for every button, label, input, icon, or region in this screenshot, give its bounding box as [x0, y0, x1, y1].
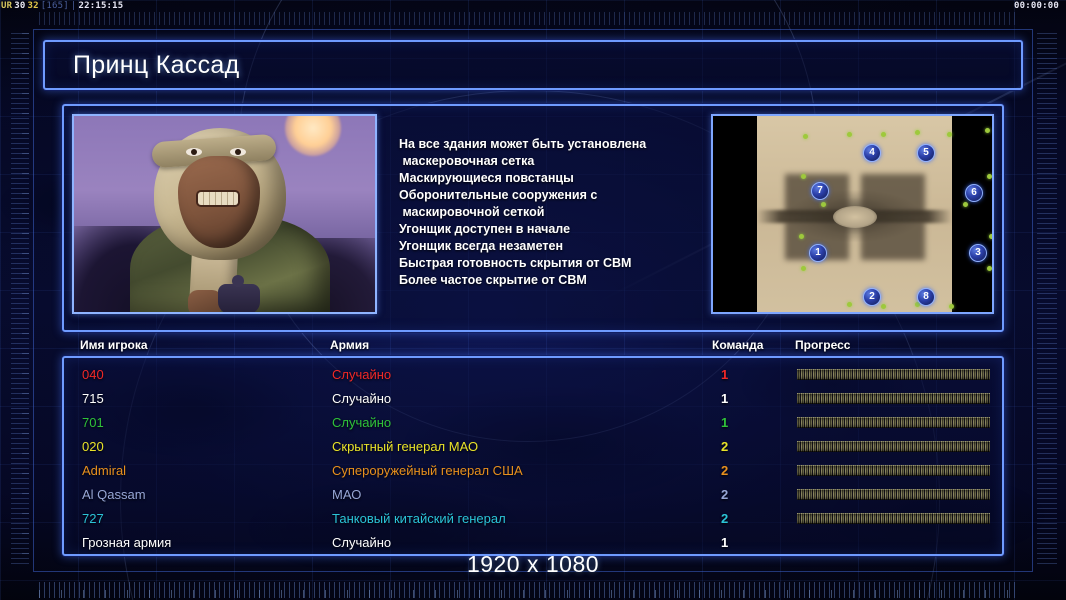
ruler-ticks-left: [11, 33, 29, 568]
table-row[interactable]: Al QassamМАО2: [64, 482, 1002, 506]
map-center-clearing: [833, 206, 877, 228]
map-preview[interactable]: 45761328: [711, 114, 994, 314]
map-structure: [861, 220, 925, 260]
column-header-army: Армия: [330, 338, 369, 352]
ability-line: Угонщик всегда незаметен: [399, 238, 711, 255]
supply-dot: [881, 304, 886, 309]
supply-dot: [801, 266, 806, 271]
progress-bar: [797, 513, 990, 524]
ability-line: Более частое скрытие от СВМ: [399, 272, 711, 289]
general-portrait: [72, 114, 377, 314]
top-status-bar: UR3032[165]|22:15:15 00:00:00: [0, 0, 1066, 13]
supply-dot: [987, 266, 992, 271]
supply-dot: [963, 202, 968, 207]
progress-bar: [797, 369, 990, 380]
supply-dot: [801, 174, 806, 179]
start-position-marker[interactable]: 6: [965, 184, 983, 202]
cell-player-name: 040: [82, 367, 104, 382]
status-time: 22:15:15: [77, 1, 124, 11]
ability-line: Угонщик доступен в начале: [399, 221, 711, 238]
eye-right: [230, 148, 246, 156]
table-row[interactable]: 727Танковый китайский генерал2: [64, 506, 1002, 530]
cell-team[interactable]: 1: [721, 367, 728, 382]
cell-team[interactable]: 1: [721, 391, 728, 406]
ruler-ticks-top: [39, 12, 1019, 25]
table-row[interactable]: 020Скрытный генерал МАО2: [64, 434, 1002, 458]
game-lobby-screen: UR3032[165]|22:15:15 00:00:00 Принц Касс…: [0, 0, 1066, 600]
cell-player-name: Admiral: [82, 463, 126, 478]
general-info-panel: На все здания может быть установлена мас…: [62, 104, 1004, 332]
cell-team[interactable]: 2: [721, 463, 728, 478]
eye-left: [186, 148, 202, 156]
cell-army[interactable]: Случайно: [332, 367, 391, 382]
cell-progress: [797, 513, 990, 524]
table-row[interactable]: 040Случайно1: [64, 362, 1002, 386]
map-terrain: 45761328: [757, 116, 952, 314]
supply-dot: [947, 132, 952, 137]
cell-player-name: 701: [82, 415, 104, 430]
resolution-label: 1920 x 1080: [0, 551, 1066, 578]
supply-dot: [799, 234, 804, 239]
general-ability-list: На все здания может быть установлена мас…: [377, 114, 711, 289]
column-header-player-name: Имя игрока: [80, 338, 148, 352]
page-title: Принц Кассад: [73, 51, 239, 80]
ruler-ticks-right: [1037, 33, 1057, 568]
cell-team[interactable]: 1: [721, 415, 728, 430]
progress-bar: [797, 489, 990, 500]
cell-progress: [797, 465, 990, 476]
table-row[interactable]: 715Случайно1: [64, 386, 1002, 410]
cell-team[interactable]: 2: [721, 439, 728, 454]
cell-progress: [797, 369, 990, 380]
status-label: UR: [0, 1, 13, 11]
portrait-figure: [126, 122, 336, 312]
column-header-progress: Прогресс: [795, 338, 850, 352]
supply-dot: [803, 134, 808, 139]
hand: [188, 290, 222, 314]
cell-player-name: Al Qassam: [82, 487, 146, 502]
cell-army[interactable]: Супероружейный генерал США: [332, 463, 523, 478]
start-position-marker[interactable]: 2: [863, 288, 881, 306]
cell-progress: [797, 417, 990, 428]
cell-player-name: Грозная армия: [82, 535, 171, 550]
cell-army[interactable]: Случайно: [332, 535, 391, 550]
cell-army[interactable]: Случайно: [332, 415, 391, 430]
player-table-header: Имя игрока Армия Команда Прогресс: [62, 338, 1004, 356]
start-position-marker[interactable]: 5: [917, 144, 935, 162]
start-position-marker[interactable]: 8: [917, 288, 935, 306]
cell-army[interactable]: Танковый китайский генерал: [332, 511, 506, 526]
cell-progress: [797, 393, 990, 404]
supply-dot: [881, 132, 886, 137]
supply-dot: [989, 234, 994, 239]
cell-team[interactable]: 2: [721, 487, 728, 502]
ability-line: Маскирующиеся повстанцы: [399, 170, 711, 187]
start-position-marker[interactable]: 7: [811, 182, 829, 200]
supply-dot: [987, 174, 992, 179]
title-panel: Принц Кассад: [43, 40, 1023, 90]
supply-dot: [985, 128, 990, 133]
supply-dot: [821, 202, 826, 207]
cell-progress: [797, 441, 990, 452]
cell-army[interactable]: МАО: [332, 487, 361, 502]
mouth: [198, 192, 238, 205]
cell-player-name: 715: [82, 391, 104, 406]
progress-bar: [797, 465, 990, 476]
ability-line: На все здания может быть установлена: [399, 136, 711, 153]
progress-bar: [797, 417, 990, 428]
ability-line: маскировочной сеткой: [399, 204, 711, 221]
clock-readout: 00:00:00: [1014, 0, 1059, 13]
teapot: [218, 284, 260, 314]
ruler-ticks-bottom: [39, 582, 1019, 598]
progress-bar: [797, 441, 990, 452]
start-position-marker[interactable]: 3: [969, 244, 987, 262]
supply-dot: [915, 130, 920, 135]
progress-bar: [797, 393, 990, 404]
start-position-marker[interactable]: 4: [863, 144, 881, 162]
cell-progress: [797, 489, 990, 500]
cell-army[interactable]: Случайно: [332, 391, 391, 406]
cell-team[interactable]: 1: [721, 535, 728, 550]
start-position-marker[interactable]: 1: [809, 244, 827, 262]
table-row[interactable]: AdmiralСупероружейный генерал США2: [64, 458, 1002, 482]
column-header-team: Команда: [712, 338, 763, 352]
cell-player-name: 727: [82, 511, 104, 526]
status-bracket: [165]: [40, 1, 70, 11]
cell-player-name: 020: [82, 439, 104, 454]
supply-dot: [847, 302, 852, 307]
cell-army[interactable]: Скрытный генерал МАО: [332, 439, 478, 454]
supply-dot: [949, 304, 954, 309]
ability-line: Быстрая готовность скрытия от СВМ: [399, 255, 711, 272]
status-value-1: 30: [13, 1, 26, 11]
table-row[interactable]: 701Случайно1: [64, 410, 1002, 434]
ability-line: Оборонительные сооружения с: [399, 187, 711, 204]
status-value-2: 32: [27, 1, 40, 11]
cell-team[interactable]: 2: [721, 511, 728, 526]
player-table: 040Случайно1715Случайно1701Случайно1020С…: [62, 356, 1004, 556]
ability-line: маскеровочная сетка: [399, 153, 711, 170]
supply-dot: [847, 132, 852, 137]
